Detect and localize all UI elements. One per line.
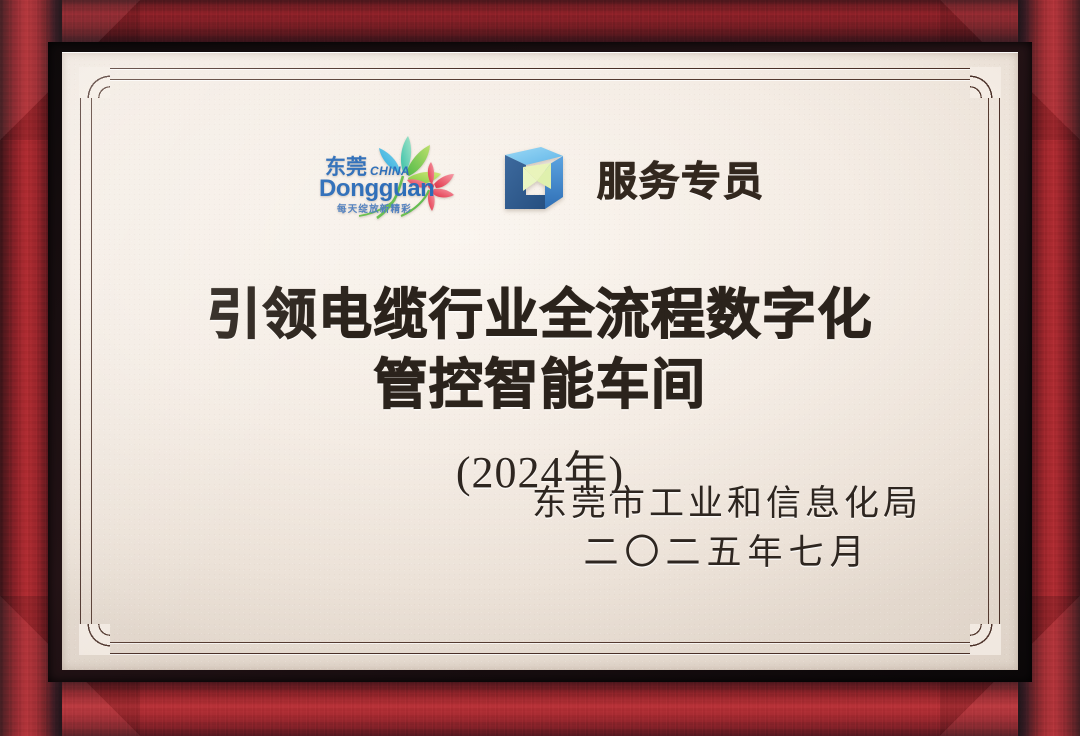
logo-row: 东莞 CHINA Dongguan 每天绽放新精彩 [62,130,1018,226]
dongguan-pinyin-label: Dongguan [319,175,434,202]
issuing-organization: 东莞市工业和信息化局 [532,479,922,529]
service-specialist-label: 服务专员 [597,149,765,207]
award-title-block: 引领电缆行业全流程数字化 管控智能车间 (2024年) [62,280,1018,500]
award-title-line-2: 管控智能车间 [62,350,1018,420]
plaque-content: 东莞 CHINA Dongguan 每天绽放新精彩 [62,52,1018,670]
issue-date: 二〇二五年七月 [532,528,922,578]
service-cube-icon [493,139,571,217]
issuer-signature-block: 东莞市工业和信息化局 二〇二五年七月 [532,479,922,578]
dongguan-city-logo: 东莞 CHINA Dongguan 每天绽放新精彩 [315,130,467,226]
award-plaque-photo: 东莞 CHINA Dongguan 每天绽放新精彩 [0,0,1080,736]
award-title-line-1: 引领电缆行业全流程数字化 [62,280,1018,350]
plaque-board: 东莞 CHINA Dongguan 每天绽放新精彩 [62,52,1018,670]
dongguan-tagline: 每天绽放新精彩 [337,203,412,215]
